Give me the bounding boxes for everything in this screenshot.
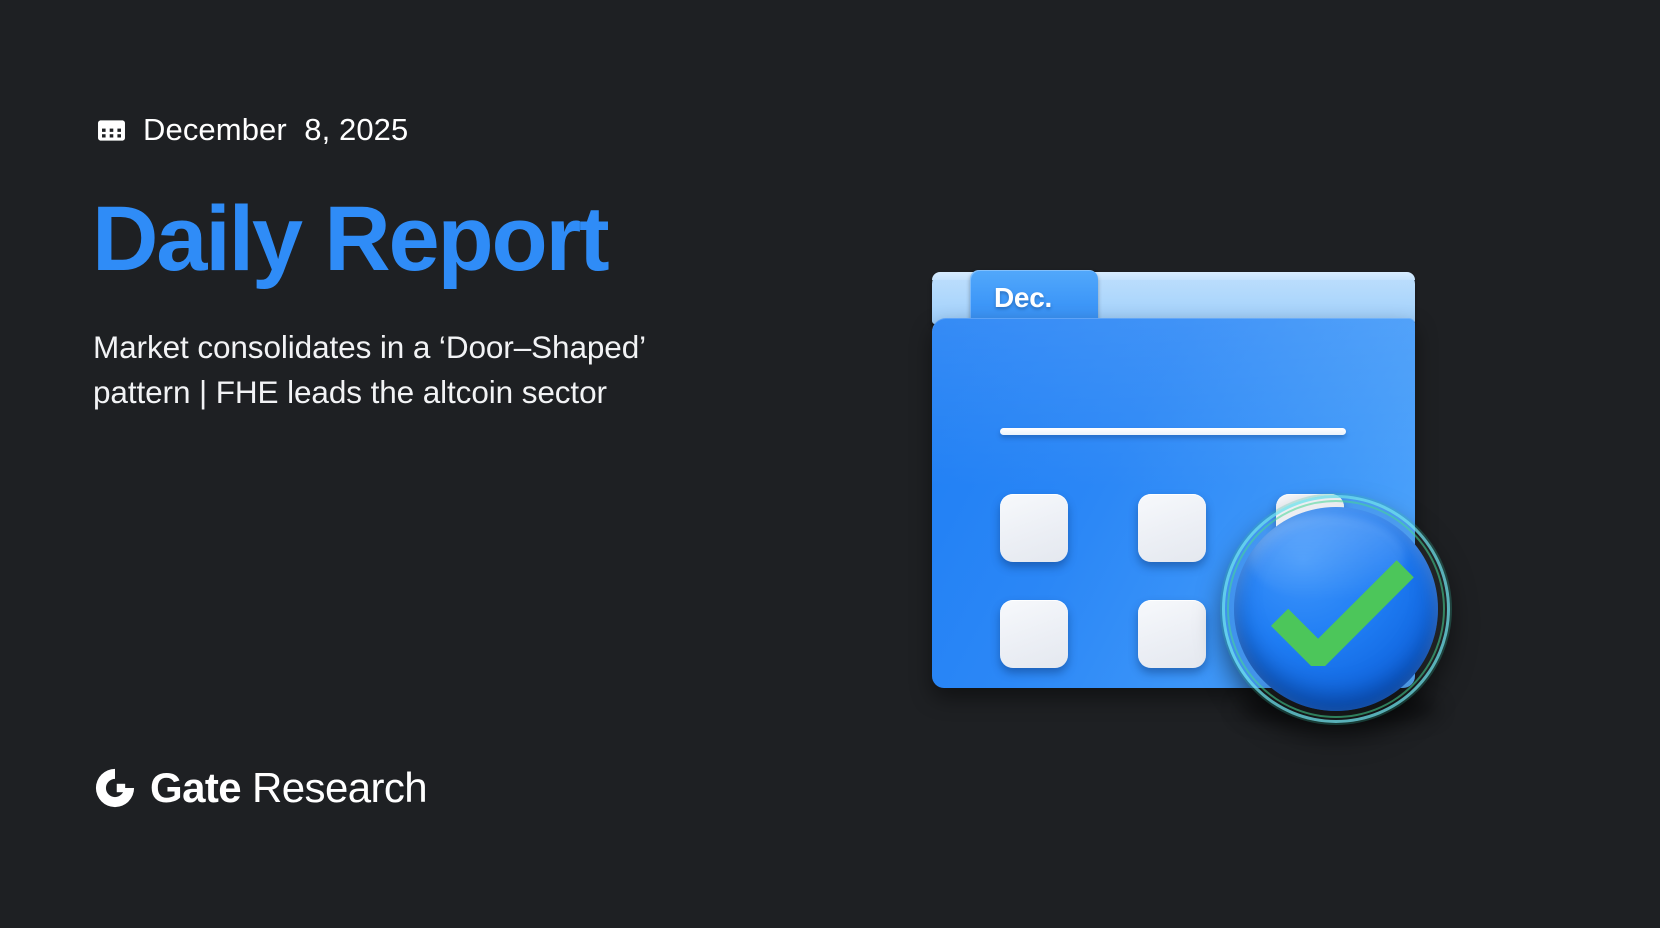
subtitle: Market consolidates in a ‘Door–Shaped’ p… <box>93 325 646 414</box>
brand-name-regular: Research <box>241 764 427 811</box>
calendar-month-label: Dec. <box>994 282 1052 314</box>
date-text: December 8, 2025 <box>143 112 408 148</box>
page-title: Daily Report <box>92 190 608 289</box>
check-badge-disc <box>1234 507 1438 711</box>
check-icon <box>1271 560 1414 666</box>
brand-lockup: Gate Research <box>93 758 427 818</box>
date-bar: December 8, 2025 <box>95 112 408 148</box>
check-badge <box>1222 495 1450 723</box>
calendar-divider-line <box>1000 428 1346 435</box>
calendar-day-cell <box>1000 494 1068 562</box>
subtitle-line-2: pattern | FHE leads the altcoin sector <box>93 370 646 415</box>
calendar-day-cell <box>1000 600 1068 668</box>
brand-name-bold: Gate <box>150 764 241 811</box>
calendar-day-cell <box>1138 600 1206 668</box>
gate-logo-mark-icon <box>93 766 137 810</box>
calendar-icon <box>95 114 128 147</box>
calendar-day-cell <box>1138 494 1206 562</box>
calendar-with-check-illustration: Dec. <box>900 240 1500 750</box>
subtitle-line-1: Market consolidates in a ‘Door–Shaped’ <box>93 325 646 370</box>
report-cover: December 8, 2025 Daily Report Market con… <box>0 0 1660 928</box>
brand-name: Gate Research <box>150 764 427 812</box>
